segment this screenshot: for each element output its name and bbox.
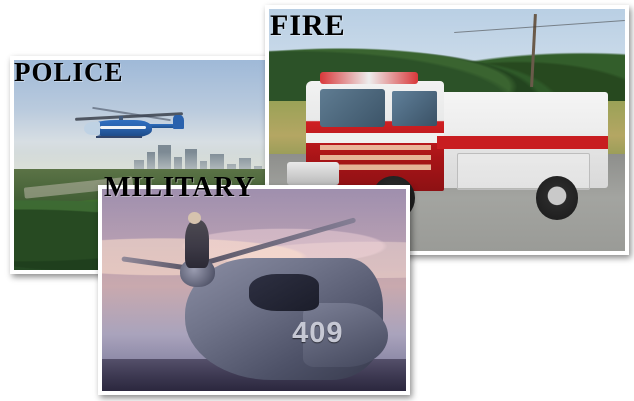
caption-military: MILITARY xyxy=(104,172,255,204)
body-stripe xyxy=(437,136,607,149)
front-bumper xyxy=(287,162,339,185)
windshield xyxy=(320,89,386,127)
image-canvas: 409 POLICE FIRE MILITARY xyxy=(0,0,634,401)
cab-stripe xyxy=(306,133,444,143)
landing-skid xyxy=(96,136,142,138)
military-helicopter: 409 xyxy=(126,250,394,383)
caption-fire: FIRE xyxy=(270,9,346,43)
side-window xyxy=(392,91,438,126)
tail-fin xyxy=(173,115,183,129)
livery-stripe xyxy=(100,126,146,129)
police-helicopter xyxy=(82,106,186,144)
emergency-lightbar xyxy=(320,72,418,84)
cockpit-canopy xyxy=(249,274,319,311)
rear-wheel xyxy=(536,176,579,220)
military-scene: 409 xyxy=(102,189,406,391)
photo-military: 409 xyxy=(98,185,410,395)
crew-member xyxy=(185,220,209,268)
caption-police: POLICE xyxy=(14,57,124,88)
cockpit-canopy xyxy=(84,122,101,135)
aircraft-number: 409 xyxy=(292,319,372,348)
